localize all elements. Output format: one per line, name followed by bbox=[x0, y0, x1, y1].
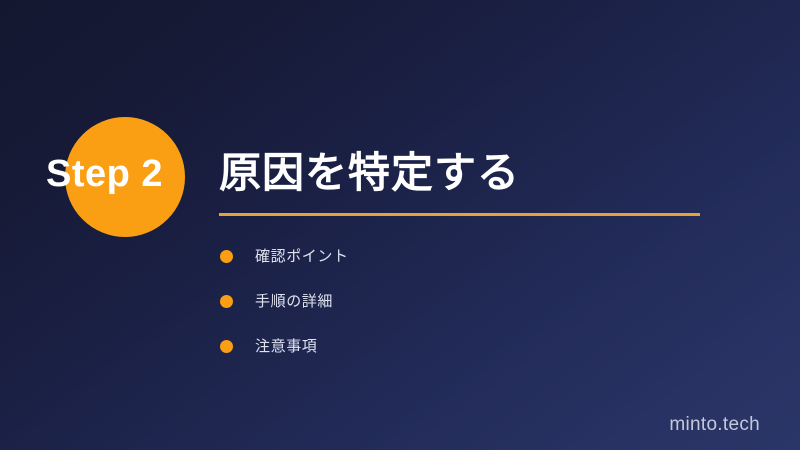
title-divider-rule bbox=[219, 213, 700, 216]
list-item: 確認ポイント bbox=[219, 234, 349, 279]
slide-title: 原因を特定する bbox=[219, 148, 520, 198]
bullet-dot-icon bbox=[220, 250, 233, 263]
list-item-label: 確認ポイント bbox=[255, 249, 349, 264]
presentation-slide: Step 2 原因を特定する 確認ポイント 手順の詳細 注意事項 minto.t… bbox=[0, 0, 800, 450]
list-item-label: 手順の詳細 bbox=[255, 294, 333, 309]
step-badge-label: Step 2 bbox=[46, 150, 206, 198]
bullet-list: 確認ポイント 手順の詳細 注意事項 bbox=[219, 234, 349, 369]
bullet-dot-icon bbox=[220, 295, 233, 308]
bullet-dot-icon bbox=[220, 340, 233, 353]
list-item-label: 注意事項 bbox=[255, 339, 317, 354]
list-item: 注意事項 bbox=[219, 324, 349, 369]
list-item: 手順の詳細 bbox=[219, 279, 349, 324]
footer-brand-label: minto.tech bbox=[669, 414, 760, 436]
